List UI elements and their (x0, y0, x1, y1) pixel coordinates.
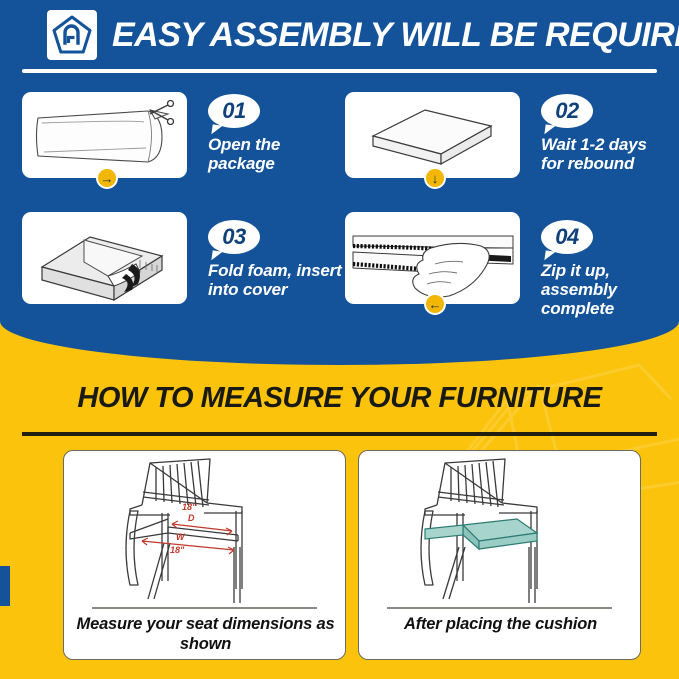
arrow-glyph: ↓ (432, 172, 439, 185)
step-03-badge: 03 (208, 220, 260, 254)
card-separator (387, 607, 612, 609)
step-01-label: Open the package (208, 135, 342, 173)
width-label: W (176, 532, 186, 542)
depth-label: D (188, 513, 195, 523)
arrow-glyph: → (101, 172, 114, 185)
step-02-badge: 02 (541, 94, 593, 128)
infographic-page: EASY ASSEMBLY WILL BE REQUIRED (0, 0, 679, 679)
step-number: 04 (555, 226, 578, 248)
measure-divider (22, 432, 657, 436)
arrow-down-icon: ↓ (424, 167, 446, 189)
step-01-badge: 01 (208, 94, 260, 128)
step-01-illustration-card (22, 92, 187, 178)
step-03-illustration-card (22, 212, 187, 304)
assembly-section: EASY ASSEMBLY WILL BE REQUIRED (0, 0, 679, 365)
arrow-right-icon: → (96, 167, 118, 189)
assembly-header: EASY ASSEMBLY WILL BE REQUIRED (0, 0, 679, 62)
step-02-label: Wait 1-2 days for rebound (541, 135, 665, 173)
card-separator (92, 607, 317, 609)
step-04: ← 04 Zip it up, assembly complete (345, 212, 665, 322)
step-number: 02 (555, 100, 578, 122)
header-divider (22, 69, 657, 73)
width-value: 18" (170, 545, 185, 555)
measure-card-caption-left: Measure your seat dimensions as shown (74, 615, 337, 655)
step-03-label: Fold foam, insert into cover (208, 261, 342, 299)
step-number: 01 (222, 100, 245, 122)
page-title: EASY ASSEMBLY WILL BE REQUIRED (112, 11, 679, 59)
left-edge-accent (0, 566, 10, 606)
arrow-glyph: ← (429, 298, 442, 311)
arrow-left-icon: ← (424, 293, 446, 315)
depth-value: 18" (182, 502, 197, 512)
home-pentagon-icon (47, 10, 97, 60)
step-number: 03 (222, 226, 245, 248)
measure-section-title: HOW TO MEASURE YOUR FURNITURE (0, 381, 679, 415)
step-02: ↓ 02 Wait 1-2 days for rebound (345, 92, 665, 202)
step-02-illustration-card (345, 92, 520, 178)
step-04-illustration-card (345, 212, 520, 304)
patio-chair-with-dimensions-illustration: 18" D W 18" (64, 453, 346, 603)
step-04-badge: 04 (541, 220, 593, 254)
step-03: 03 Fold foam, insert into cover (22, 212, 342, 322)
patio-chair-with-cushion-illustration (359, 453, 641, 603)
measure-card-cushion: After placing the cushion (358, 450, 641, 660)
step-04-label: Zip it up, assembly complete (541, 261, 665, 318)
measure-card-caption-right: After placing the cushion (369, 615, 632, 635)
measure-card-dimensions: 18" D W 18" Measure your seat dimensions… (63, 450, 346, 660)
step-01: → 01 Open the package (22, 92, 342, 202)
